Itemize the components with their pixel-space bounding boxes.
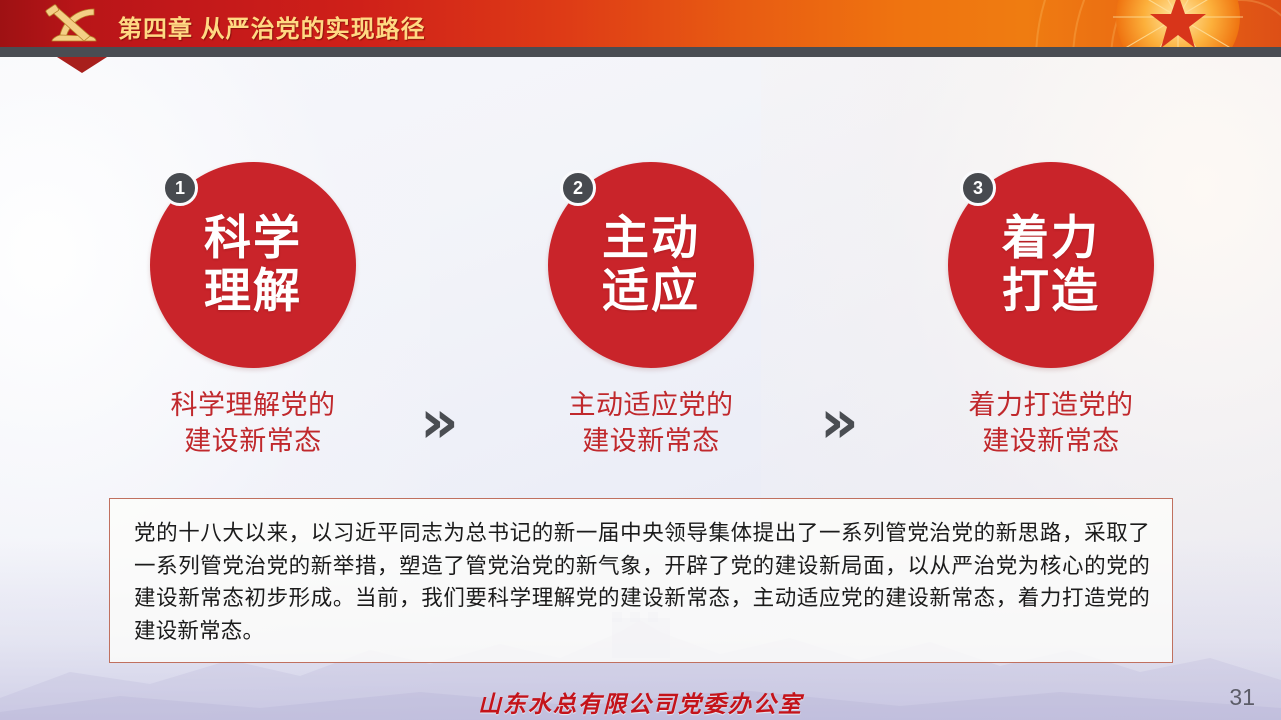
body-textbox: 党的十八大以来，以习近平同志为总书记的新一届中央领导集体提出了一系列管党治党的新… [109,498,1173,663]
body-paragraph: 党的十八大以来，以习近平同志为总书记的新一届中央领导集体提出了一系列管党治党的新… [110,499,1172,648]
step-1-label-line2: 理解 [204,265,302,318]
step-2[interactable]: 主动 适应 2 [548,162,754,368]
step-3-caption: 着力打造党的 建设新常态 [901,388,1201,459]
step-3[interactable]: 着力 打造 3 [948,162,1154,368]
star-burst-icon [1103,0,1253,47]
step-1-caption-line1: 科学理解党的 [103,388,403,424]
step-2-label-line2: 适应 [602,265,700,318]
hammer-and-sickle-icon [34,3,118,45]
step-2-caption-line1: 主动适应党的 [501,388,801,424]
step-1-number-badge: 1 [162,170,198,206]
step-2-caption-line2: 建设新常态 [501,424,801,460]
step-1-label-line1: 科学 [204,212,302,265]
arrow-2-icon: » [820,392,853,452]
concentric-rings-decoration-icon [921,0,1281,47]
step-1[interactable]: 科学 理解 1 [150,162,356,368]
step-2-label-line1: 主动 [602,212,700,265]
step-2-caption: 主动适应党的 建设新常态 [501,388,801,459]
arrow-1-icon: » [420,392,453,452]
step-3-caption-line1: 着力打造党的 [901,388,1201,424]
steps-row: 科学 理解 1 » 主动 适应 2 » 着力 打造 3 [0,160,1281,370]
step-2-number-badge: 2 [560,170,596,206]
step-1-caption: 科学理解党的 建设新常态 [103,388,403,459]
page-title: 第四章 从严治党的实现路径 [118,9,426,44]
page-number: 31 [1229,684,1255,711]
footer-organization: 山东水总有限公司党委办公室 [0,685,1281,719]
step-3-caption-line2: 建设新常态 [901,424,1201,460]
header-underbar [0,47,1281,57]
step-3-label-line2: 打造 [1002,265,1100,318]
step-1-caption-line2: 建设新常态 [103,424,403,460]
step-3-number-badge: 3 [960,170,996,206]
step-3-label-line1: 着力 [1002,212,1100,265]
ribbon-tail-decoration [57,57,107,73]
slide-canvas: 第四章 从严治党的实现路径 科学 理解 1 » 主动 适应 2 » 着力 [0,0,1281,720]
slide-header-bar: 第四章 从严治党的实现路径 [0,0,1281,47]
